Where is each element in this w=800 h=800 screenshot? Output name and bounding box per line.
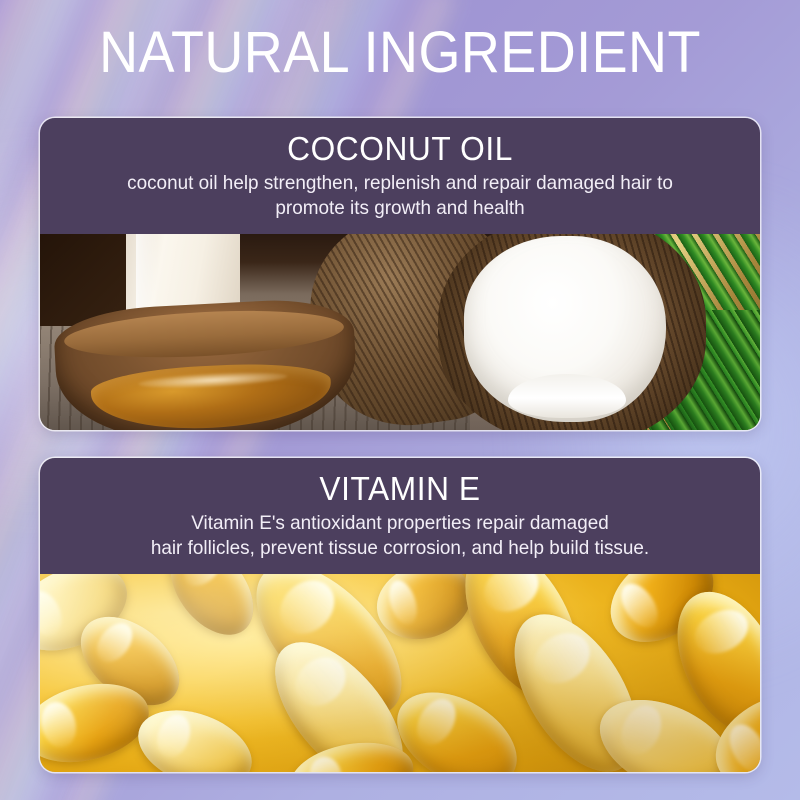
ingredient-card-vitamin-e: VITAMIN E Vitamin E's antioxidant proper… xyxy=(40,458,760,772)
card-description-line: hair follicles, prevent tissue corrosion… xyxy=(78,536,722,561)
page-title: NATURAL INGREDIENT xyxy=(28,22,772,84)
card-description-line: Vitamin E's antioxidant properties repai… xyxy=(78,511,722,536)
oil-foam-highlight xyxy=(138,370,287,391)
coconut-scene xyxy=(40,234,760,430)
bowl-rim xyxy=(63,305,345,364)
card-photo-vitamin-e xyxy=(40,574,760,772)
card-description-line: coconut oil help strengthen, replenish a… xyxy=(78,171,722,196)
wooden-bowl xyxy=(53,296,360,430)
card-header-coconut-oil: COCONUT OIL coconut oil help strengthen,… xyxy=(40,118,760,234)
coconut-flesh xyxy=(464,236,666,422)
card-header-vitamin-e: VITAMIN E Vitamin E's antioxidant proper… xyxy=(40,458,760,574)
coconut-oil-liquid xyxy=(90,360,333,430)
softgel-capsule xyxy=(154,574,270,650)
card-description-coconut-oil: coconut oil help strengthen, replenish a… xyxy=(78,171,722,221)
coconut-milk xyxy=(508,374,625,418)
card-description-line: promote its growth and health xyxy=(78,196,722,221)
softgel-capsules-scene xyxy=(40,574,760,772)
card-title-vitamin-e: VITAMIN E xyxy=(81,470,718,508)
infographic-page: NATURAL INGREDIENT COCONUT OIL coconut o… xyxy=(0,0,800,800)
card-title-coconut-oil: COCONUT OIL xyxy=(81,130,718,168)
ingredient-card-coconut-oil: COCONUT OIL coconut oil help strengthen,… xyxy=(40,118,760,430)
card-photo-coconut-oil xyxy=(40,234,760,430)
card-description-vitamin-e: Vitamin E's antioxidant properties repai… xyxy=(78,511,722,561)
halved-coconut xyxy=(438,234,706,430)
